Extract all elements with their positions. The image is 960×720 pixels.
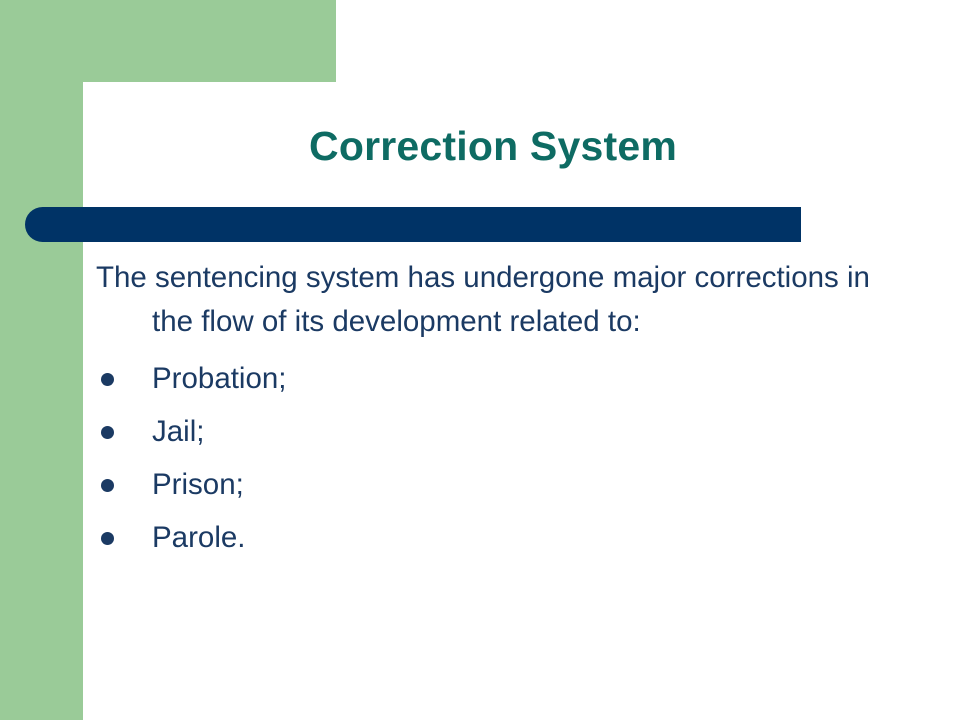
- slide-title: Correction System: [83, 124, 903, 169]
- list-item-label: Probation;: [152, 352, 286, 405]
- list-item: Jail;: [96, 405, 886, 458]
- lead-paragraph: The sentencing system has undergone majo…: [96, 256, 886, 344]
- list-item-label: Jail;: [152, 405, 204, 458]
- slide-title-text: Correction System: [309, 124, 677, 169]
- green-top-band: [0, 0, 336, 82]
- disc-bullet-icon: [101, 532, 114, 545]
- list-item: Prison;: [96, 458, 886, 511]
- list-item: Probation;: [96, 352, 886, 405]
- list-item-label: Prison;: [152, 458, 244, 511]
- bullet-list: Probation; Jail; Prison; Parole.: [96, 352, 886, 564]
- list-item: Parole.: [96, 511, 886, 564]
- slide-body: The sentencing system has undergone majo…: [96, 256, 886, 564]
- disc-bullet-icon: [101, 373, 114, 386]
- slide-canvas: Correction System The sentencing system …: [0, 0, 960, 720]
- disc-bullet-icon: [101, 479, 114, 492]
- disc-bullet-icon: [101, 426, 114, 439]
- list-item-label: Parole.: [152, 511, 245, 564]
- green-side-strip: [0, 0, 83, 720]
- title-divider-bar: [25, 207, 801, 242]
